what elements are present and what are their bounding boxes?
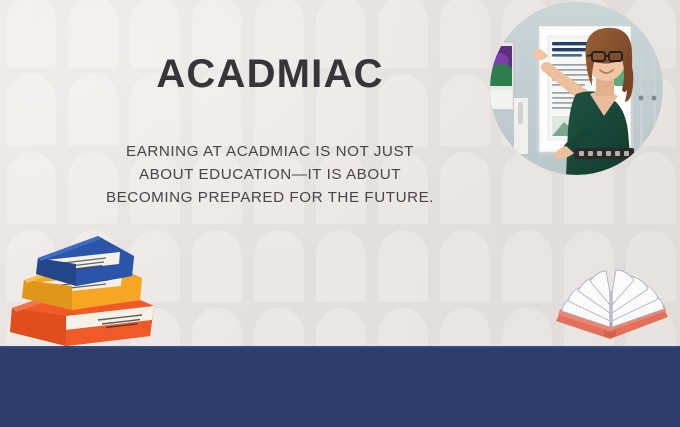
footer-bar xyxy=(0,346,680,427)
tagline-text: EARNING AT ACADMIAC IS NOT JUST ABOUT ED… xyxy=(70,140,470,209)
banner-canvas: ACADMIAC EARNING AT ACADMIAC IS NOT JUST… xyxy=(0,0,680,427)
footer-accent-line xyxy=(0,346,680,348)
open-book-illustration xyxy=(548,255,676,350)
teacher-photo xyxy=(490,2,663,175)
page-title: ACADMIAC xyxy=(70,52,470,96)
book-stack-illustration xyxy=(2,224,162,348)
headline-block: ACADMIAC EARNING AT ACADMIAC IS NOT JUST… xyxy=(70,52,470,209)
